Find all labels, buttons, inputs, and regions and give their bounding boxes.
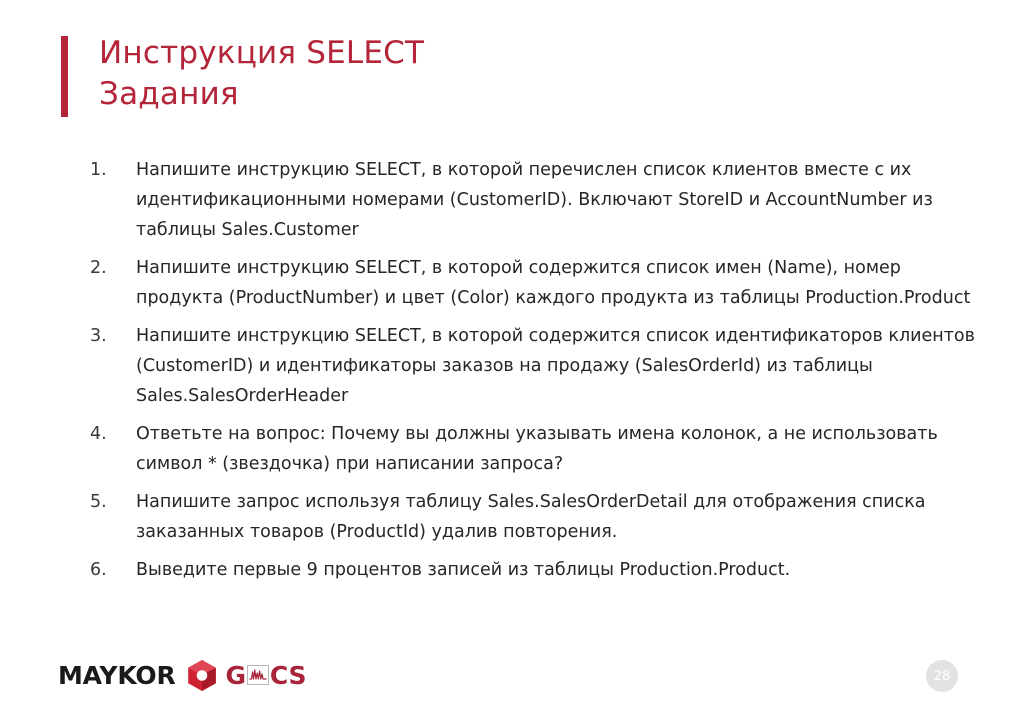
list-item: 5. Напишите запрос используя таблицу Sal… xyxy=(88,487,993,547)
list-item-text: Напишите инструкцию SELECT, в которой со… xyxy=(136,321,993,411)
list-item-number: 5. xyxy=(88,487,136,517)
page-number-badge: 28 xyxy=(926,660,958,692)
list-item-number: 2. xyxy=(88,253,136,283)
list-item-text: Ответьте на вопрос: Почему вы должны ука… xyxy=(136,419,993,479)
waveform-icon xyxy=(247,665,269,685)
page-title-line-2: Задания xyxy=(99,74,424,115)
slide-title-block: Инструкция SELECT Задания xyxy=(61,33,424,117)
logo-gmcs-text: G CS xyxy=(226,663,307,688)
company-logo: MAYKOR G CS xyxy=(58,658,306,692)
list-item: 4. Ответьте на вопрос: Почему вы должны … xyxy=(88,419,993,479)
task-list: 1. Напишите инструкцию SELECT, в которой… xyxy=(88,155,993,593)
logo-maykor-text: MAYKOR xyxy=(58,663,176,688)
list-item-text: Напишите инструкцию SELECT, в которой пе… xyxy=(136,155,993,245)
page-title-line-1: Инструкция SELECT xyxy=(99,33,424,74)
hexagon-icon xyxy=(187,659,217,692)
slide: Инструкция SELECT Задания 1. Напишите ин… xyxy=(0,0,1024,723)
title-accent-bar xyxy=(61,36,68,117)
list-item-number: 3. xyxy=(88,321,136,351)
list-item-number: 6. xyxy=(88,555,136,585)
list-item: 2. Напишите инструкцию SELECT, в которой… xyxy=(88,253,993,313)
logo-gmcs-suffix: CS xyxy=(270,663,306,688)
list-item-number: 4. xyxy=(88,419,136,449)
list-item: 6. Выведите первые 9 процентов записей и… xyxy=(88,555,993,585)
list-item-text: Напишите инструкцию SELECT, в которой со… xyxy=(136,253,993,313)
list-item-text: Напишите запрос используя таблицу Sales.… xyxy=(136,487,993,547)
list-item-text: Выведите первые 9 процентов записей из т… xyxy=(136,555,993,585)
logo-gmcs-prefix: G xyxy=(226,663,246,688)
list-item: 3. Напишите инструкцию SELECT, в которой… xyxy=(88,321,993,411)
list-item-number: 1. xyxy=(88,155,136,185)
page-title: Инструкция SELECT Задания xyxy=(99,33,424,115)
list-item: 1. Напишите инструкцию SELECT, в которой… xyxy=(88,155,993,245)
